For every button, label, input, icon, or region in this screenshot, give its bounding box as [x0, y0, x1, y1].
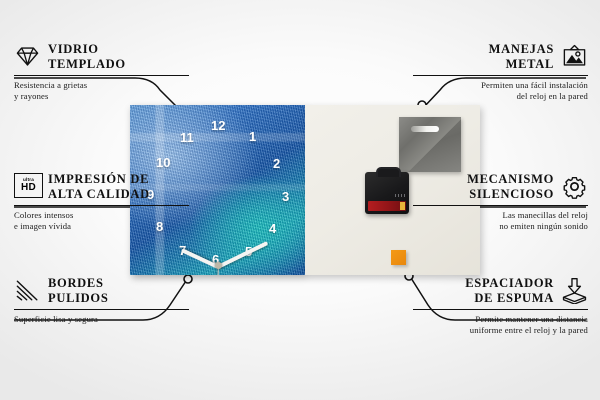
callout-sub-line1: Superficie lisa y segura	[14, 314, 189, 325]
ultra-hd-icon-large-text: HD	[21, 183, 36, 193]
callout-mecanismo-silencioso: MECANISMO SILENCIOSO Las manecillas del …	[413, 172, 588, 233]
callout-sub-line1: Las manecillas del reloj	[413, 210, 588, 221]
callout-title-line1: MANEJAS	[489, 42, 554, 57]
callout-sub-line2: uniforme entre el reloj y la pared	[413, 325, 588, 336]
ultra-hd-icon: ultra HD	[14, 173, 41, 200]
clock-number-2: 2	[273, 157, 280, 170]
callout-sub-line1: Permite mantener una distancia	[413, 314, 588, 325]
callout-divider	[413, 75, 588, 76]
clock-number-11: 11	[180, 131, 194, 144]
callout-title-line1: IMPRESIÓN DE	[48, 172, 150, 187]
callout-title-line2: PULIDOS	[48, 291, 108, 306]
callout-sub-line2: e imagen vívida	[14, 221, 189, 232]
callout-title-line2: SILENCIOSO	[467, 187, 554, 202]
callout-sub-line2: del reloj en la pared	[413, 91, 588, 102]
metal-hanger-plate	[399, 117, 461, 172]
callout-impresion-alta-calidad: ultra HD IMPRESIÓN DE ALTA CALIDAD Color…	[14, 172, 189, 233]
callout-divider	[413, 205, 588, 206]
callout-sub-line1: Colores intensos	[14, 210, 189, 221]
clock-number-10: 10	[156, 156, 170, 169]
clock-number-1: 1	[249, 130, 256, 143]
callout-title-line2: ALTA CALIDAD	[48, 187, 150, 202]
callout-divider	[14, 205, 189, 206]
callout-sub-line2: no emiten ningún sonido	[413, 221, 588, 232]
callout-divider	[413, 309, 588, 310]
orange-foam-spacer	[391, 250, 406, 265]
infographic-canvas: 12 1 2 3 4 5 6 7 8 9 10 11	[0, 0, 600, 400]
callout-sub-line2: y rayones	[14, 91, 189, 102]
callout-manejas-metal: MANEJAS METAL Permiten una fácil instala…	[413, 42, 588, 103]
callout-title-line1: BORDES	[48, 276, 108, 291]
mechanism-hanging-tab	[376, 167, 401, 177]
clock-number-3: 3	[282, 190, 289, 203]
callout-title-line1: MECANISMO	[467, 172, 554, 187]
callout-bordes-pulidos: BORDES PULIDOS Superficie lisa y segura	[14, 276, 189, 325]
callout-title-line1: VIDRIO	[48, 42, 126, 57]
clock-mechanism-box	[365, 172, 409, 214]
callout-title-line2: METAL	[489, 57, 554, 72]
mechanism-detail	[395, 194, 405, 197]
callout-divider	[14, 309, 189, 310]
callout-divider	[14, 75, 189, 76]
gear-icon	[561, 173, 588, 200]
foam-spacer-arrow-icon	[561, 277, 588, 304]
hanger-keyhole-slot	[411, 126, 439, 132]
callout-espaciador-espuma: ESPACIADOR DE ESPUMA Permite mantener un…	[413, 276, 588, 337]
callout-title-line2: TEMPLADO	[48, 57, 126, 72]
clock-number-4: 4	[269, 222, 276, 235]
clock-center-cap	[215, 262, 222, 269]
battery-terminal	[400, 202, 405, 210]
diamond-icon	[14, 43, 41, 70]
callout-title-line1: ESPACIADOR	[465, 276, 554, 291]
battery-label	[368, 201, 406, 211]
clock-number-12: 12	[211, 119, 225, 132]
callout-vidrio-templado: VIDRIO TEMPLADO Resistencia a grietas y …	[14, 42, 189, 103]
callout-title-line2: DE ESPUMA	[465, 291, 554, 306]
polished-edge-icon	[14, 277, 41, 304]
callout-sub-line1: Resistencia a grietas	[14, 80, 189, 91]
callout-sub-line1: Permiten una fácil instalación	[413, 80, 588, 91]
picture-frame-hanger-icon	[561, 43, 588, 70]
